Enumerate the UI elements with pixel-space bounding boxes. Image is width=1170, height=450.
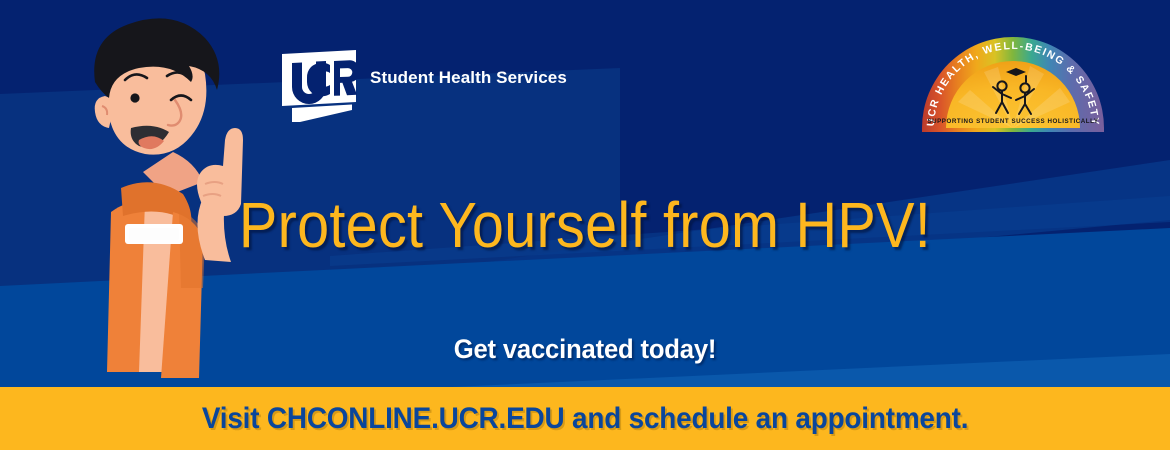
hpv-vaccination-banner: Student Health Services xyxy=(0,0,1170,450)
page-title: Protect Yourself from HPV! xyxy=(59,188,1112,262)
ucr-health-wellbeing-safety-badge: UCR HEALTH, WELL-BEING & SAFETY xyxy=(918,28,1108,143)
department-label: Student Health Services xyxy=(370,68,567,88)
ucr-student-health-services-logo[interactable]: Student Health Services xyxy=(278,50,538,120)
subheading: Get vaccinated today! xyxy=(29,334,1141,365)
call-to-action-text: Visit CHCONLINE.UCR.EDU and schedule an … xyxy=(202,402,968,436)
call-to-action-bar[interactable]: Visit CHCONLINE.UCR.EDU and schedule an … xyxy=(0,387,1170,450)
badge-tagline: SUPPORTING STUDENT SUCCESS HOLISTICALLY xyxy=(927,118,1098,125)
ucr-flag-logo-icon xyxy=(278,50,362,126)
open-eye xyxy=(130,93,139,102)
